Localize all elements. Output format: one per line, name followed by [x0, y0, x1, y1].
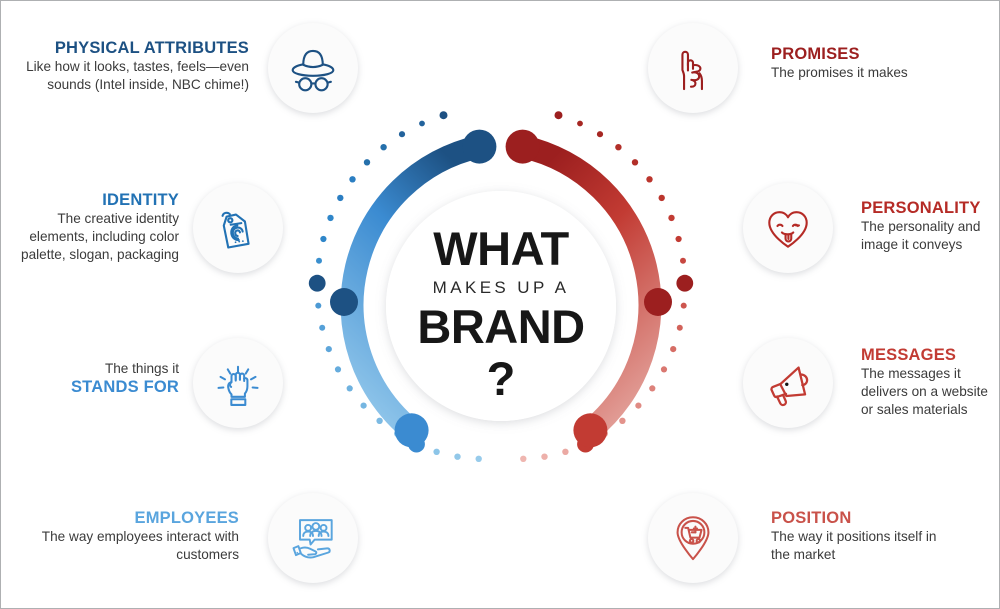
center-line-3: BRAND — [376, 304, 626, 350]
label-title-physical-attributes: PHYSICAL ATTRIBUTES — [11, 39, 249, 58]
label-desc-physical-attributes: Like how it looks, tastes, feels—even so… — [11, 58, 249, 93]
label-personality: PERSONALITY The personality and image it… — [861, 199, 999, 254]
center-line-4: ? — [376, 352, 626, 406]
label-desc-employees: The way employees interact with customer… — [11, 528, 239, 563]
winking-heart-face-icon — [762, 202, 814, 254]
hat-and-glasses-icon — [287, 42, 339, 94]
raised-fist-icon — [212, 357, 264, 409]
label-physical-attributes: PHYSICAL ATTRIBUTES Like how it looks, t… — [11, 39, 249, 94]
arc-dot-blue-top — [462, 130, 496, 164]
label-title-position: POSITION — [771, 509, 951, 528]
label-identity: IDENTITY The creative identity elements,… — [11, 191, 179, 263]
arc-dot-red-bottom — [573, 413, 607, 447]
center-wordmark: WHAT MAKES UP A BRAND ? — [376, 226, 626, 406]
hand-people-bubble-icon — [287, 512, 339, 564]
label-desc-identity: The creative identity elements, includin… — [11, 210, 179, 263]
megaphone-icon — [762, 357, 814, 409]
label-position: POSITION The way it positions itself in … — [771, 509, 951, 564]
icon-bubble-promises[interactable] — [648, 23, 738, 113]
label-title-promises: PROMISES — [771, 45, 991, 64]
tag-fingerprint-icon — [212, 202, 264, 254]
icon-bubble-position[interactable] — [648, 493, 738, 583]
label-title-employees: EMPLOYEES — [11, 509, 239, 528]
label-desc-stands-for: The things it — [11, 360, 179, 378]
arc-dot-red-mid — [644, 288, 672, 316]
label-messages: MESSAGES The messages it delivers on a w… — [861, 346, 1000, 418]
icon-bubble-personality[interactable] — [743, 183, 833, 273]
icon-bubble-physical-attributes[interactable] — [268, 23, 358, 113]
label-desc-position: The way it positions itself in the marke… — [771, 528, 951, 563]
infographic-canvas: WHAT MAKES UP A BRAND ? — [0, 0, 1000, 609]
arc-dot-blue-bottom — [395, 413, 429, 447]
label-promises: PROMISES The promises it makes — [771, 45, 991, 82]
label-title-messages: MESSAGES — [861, 346, 1000, 365]
arc-dot-red-top — [506, 130, 540, 164]
label-title-personality: PERSONALITY — [861, 199, 999, 218]
label-title-stands-for: STANDS FOR — [11, 378, 179, 397]
arc-dot-blue-mid — [330, 288, 358, 316]
label-employees: EMPLOYEES The way employees interact wit… — [11, 509, 239, 564]
center-line-1: WHAT — [376, 226, 626, 272]
label-desc-personality: The personality and image it conveys — [861, 218, 999, 253]
label-title-identity: IDENTITY — [11, 191, 179, 210]
icon-bubble-employees[interactable] — [268, 493, 358, 583]
map-pin-cart-icon — [667, 512, 719, 564]
label-desc-messages: The messages it delivers on a website or… — [861, 365, 1000, 418]
label-desc-promises: The promises it makes — [771, 64, 991, 82]
icon-bubble-stands-for[interactable] — [193, 338, 283, 428]
icon-bubble-messages[interactable] — [743, 338, 833, 428]
pinky-promise-hand-icon — [667, 42, 719, 94]
icon-bubble-identity[interactable] — [193, 183, 283, 273]
label-stands-for: The things it STANDS FOR — [11, 360, 179, 397]
